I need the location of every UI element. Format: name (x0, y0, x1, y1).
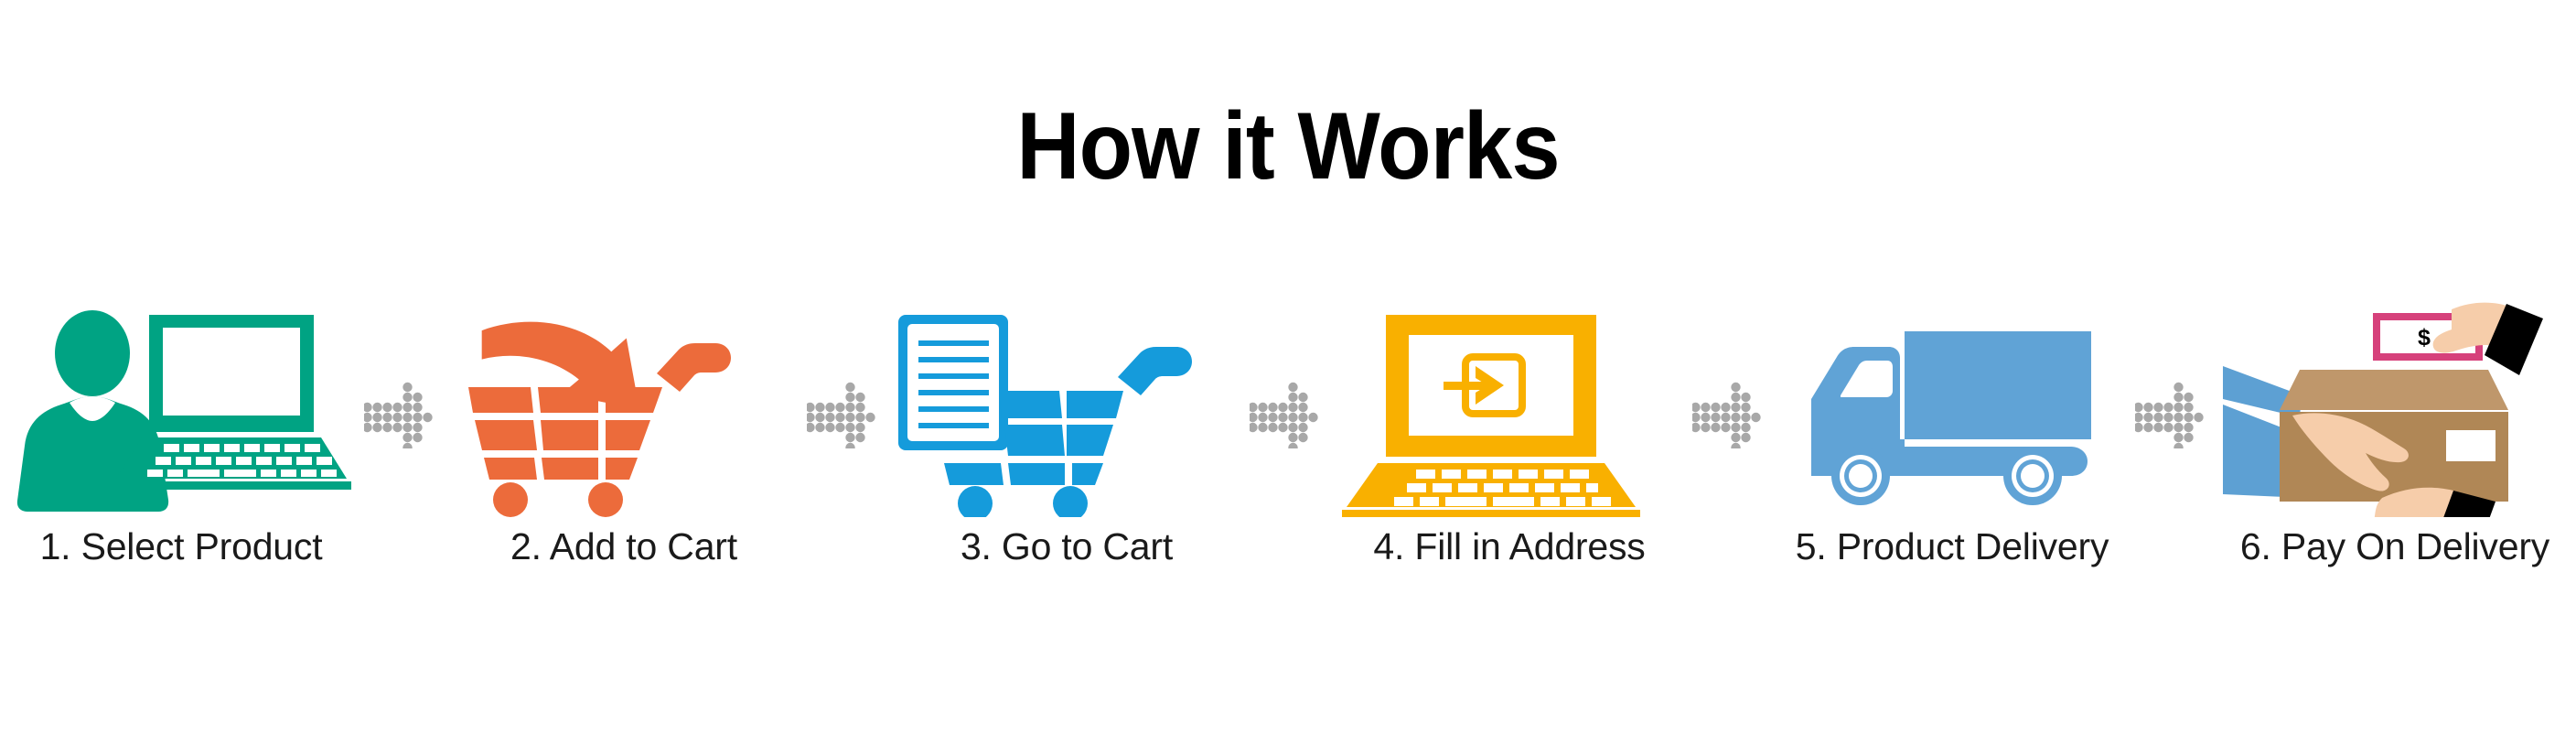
separator-dotted-arrow-3 (1250, 302, 1326, 632)
separator-dotted-arrow-5 (2135, 302, 2212, 632)
step-6-pay-on-delivery[interactable]: $ (2212, 302, 2576, 632)
separator-dotted-arrow-2 (807, 302, 884, 632)
step-6-label: 6. Pay On Delivery (2240, 524, 2549, 568)
step-4-label: 4. Fill in Address (1373, 524, 1645, 568)
separator-dotted-arrow-4 (1692, 302, 1769, 632)
invoice-with-shopping-cart-icon (884, 302, 1250, 517)
delivery-truck-icon (1769, 302, 2135, 517)
steps-row: 1. Select Product (0, 302, 2576, 632)
step-1-label: 1. Select Product (40, 524, 323, 568)
step-3-label: 3. Go to Cart (961, 524, 1173, 568)
hands-exchanging-box-and-cash-icon: $ (2212, 302, 2576, 517)
svg-text:$: $ (2418, 325, 2431, 351)
how-it-works-infographic: How it Works (0, 0, 2576, 745)
step-2-add-to-cart[interactable]: 2. Add to Cart (441, 302, 807, 632)
separator-dotted-arrow-1 (364, 302, 441, 632)
step-5-label: 5. Product Delivery (1796, 524, 2109, 568)
page-title: How it Works (103, 99, 2474, 194)
step-1-select-product[interactable]: 1. Select Product (0, 302, 364, 632)
laptop-with-login-arrow-icon (1326, 302, 1692, 517)
step-2-label: 2. Add to Cart (510, 524, 737, 568)
step-4-fill-in-address[interactable]: 4. Fill in Address (1326, 302, 1692, 632)
step-5-product-delivery[interactable]: 5. Product Delivery (1769, 302, 2135, 632)
step-3-go-to-cart[interactable]: 3. Go to Cart (884, 302, 1250, 632)
person-with-laptop-icon (0, 302, 364, 517)
arrow-into-shopping-cart-icon (441, 302, 807, 517)
